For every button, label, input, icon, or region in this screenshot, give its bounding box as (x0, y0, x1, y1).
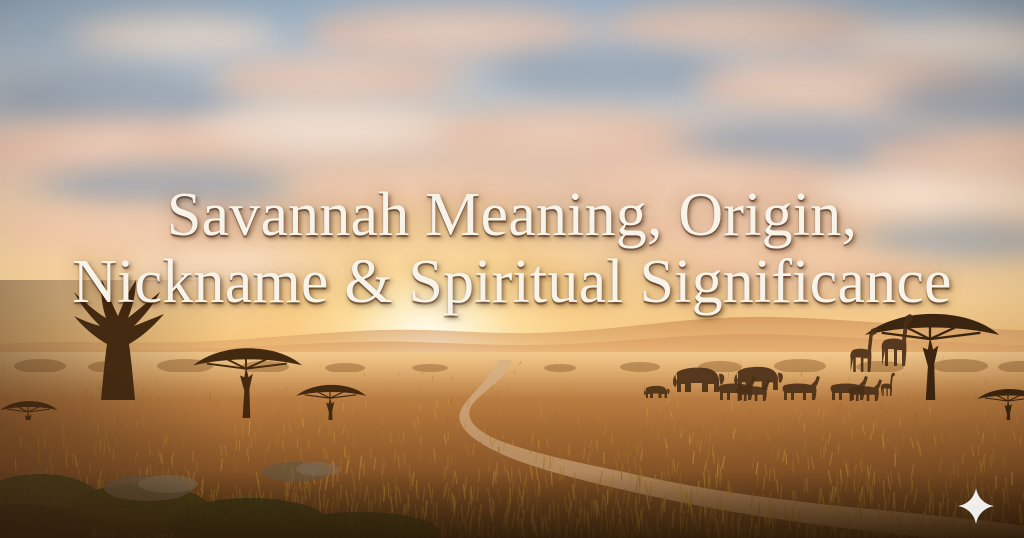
elephant-silhouette (673, 368, 724, 392)
giraffe-silhouette (881, 373, 895, 396)
featured-image-hero: Savannah Meaning, Origin, Nickname & Spi… (0, 0, 1024, 538)
elephant-silhouette (644, 386, 670, 398)
zebra-silhouette (783, 376, 820, 400)
giraffe-silhouette (850, 328, 877, 372)
animal-silhouettes (0, 0, 1024, 430)
giraffe-silhouette (882, 314, 913, 366)
four-pointed-star-sparkle-icon (957, 487, 995, 525)
